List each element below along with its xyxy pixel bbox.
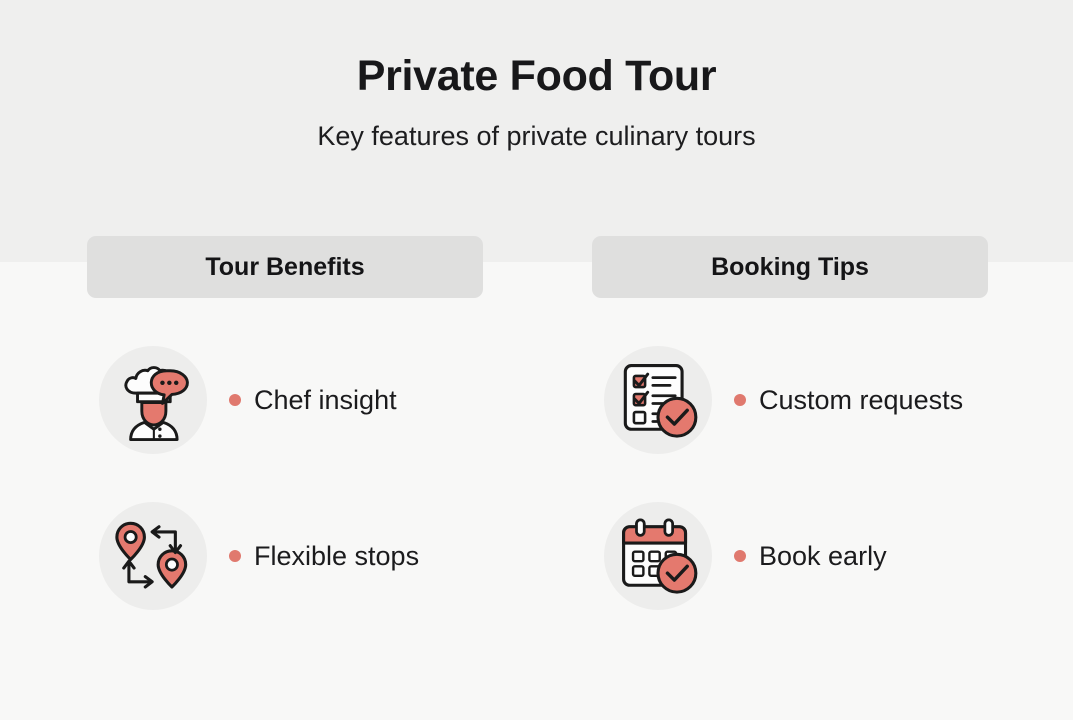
bullet-dot-icon	[734, 394, 746, 406]
map-pins-route-icon	[99, 502, 207, 610]
page-subtitle: Key features of private culinary tours	[0, 119, 1073, 154]
list-item[interactable]: Book early	[592, 496, 988, 616]
calendar-approved-icon	[604, 502, 712, 610]
list-item-label: Custom requests	[759, 384, 963, 416]
list-item[interactable]: Custom requests	[592, 340, 988, 460]
list-item[interactable]: Flexible stops	[87, 496, 483, 616]
item-list-tour-benefits: Chef insight	[87, 340, 483, 616]
item-list-booking-tips: Custom requests	[592, 340, 988, 616]
column-header-tour-benefits: Tour Benefits	[87, 236, 483, 298]
bullet-dot-icon	[229, 394, 241, 406]
bullet-dot-icon	[734, 550, 746, 562]
column-tour-benefits: Tour Benefits	[87, 236, 483, 616]
infographic-canvas: Private Food Tour Key features of privat…	[0, 0, 1073, 720]
chef-speech-bubble-icon	[99, 346, 207, 454]
list-item-label: Book early	[759, 540, 887, 572]
list-item[interactable]: Chef insight	[87, 340, 483, 460]
page-title: Private Food Tour	[0, 52, 1073, 101]
bullet-dot-icon	[229, 550, 241, 562]
column-booking-tips: Booking Tips	[592, 236, 988, 616]
list-item-label: Flexible stops	[254, 540, 419, 572]
checklist-approved-icon	[604, 346, 712, 454]
column-header-booking-tips: Booking Tips	[592, 236, 988, 298]
list-item-label: Chef insight	[254, 384, 397, 416]
